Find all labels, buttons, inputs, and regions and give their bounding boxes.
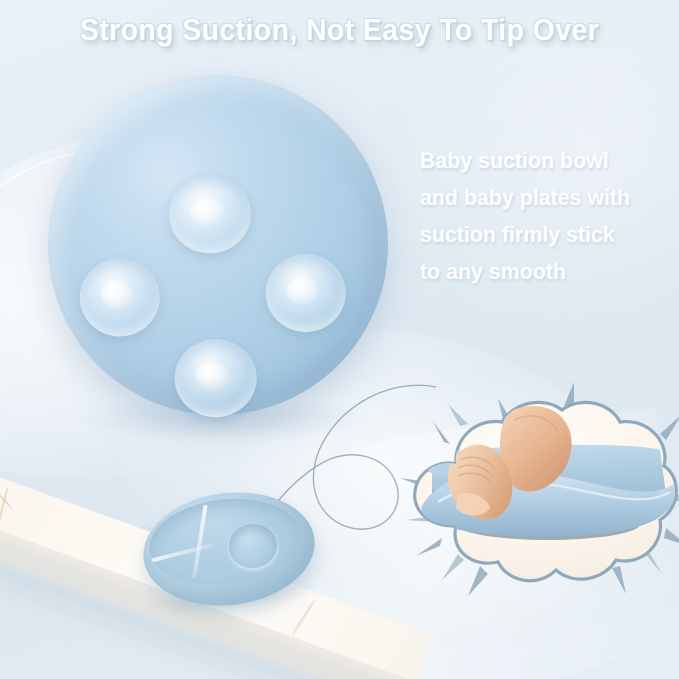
infographic-canvas: Strong Suction, Not Easy To Tip Over Bab… xyxy=(0,0,679,679)
cloud-callout xyxy=(398,398,679,618)
body-copy-line-1: Baby suction bowl xyxy=(420,142,658,179)
body-copy-line-2: and baby plates with xyxy=(420,179,658,216)
body-copy-line-3: suction firmly stick xyxy=(420,216,658,253)
body-copy-line-4: to any smooth xyxy=(420,253,658,290)
marble-vein-3 xyxy=(0,486,9,527)
body-copy: Baby suction bowl and baby plates with s… xyxy=(420,142,670,290)
divided-suction-plate xyxy=(137,483,321,615)
headline: Strong Suction, Not Easy To Tip Over xyxy=(27,12,652,48)
marble-vein-6 xyxy=(292,600,316,636)
